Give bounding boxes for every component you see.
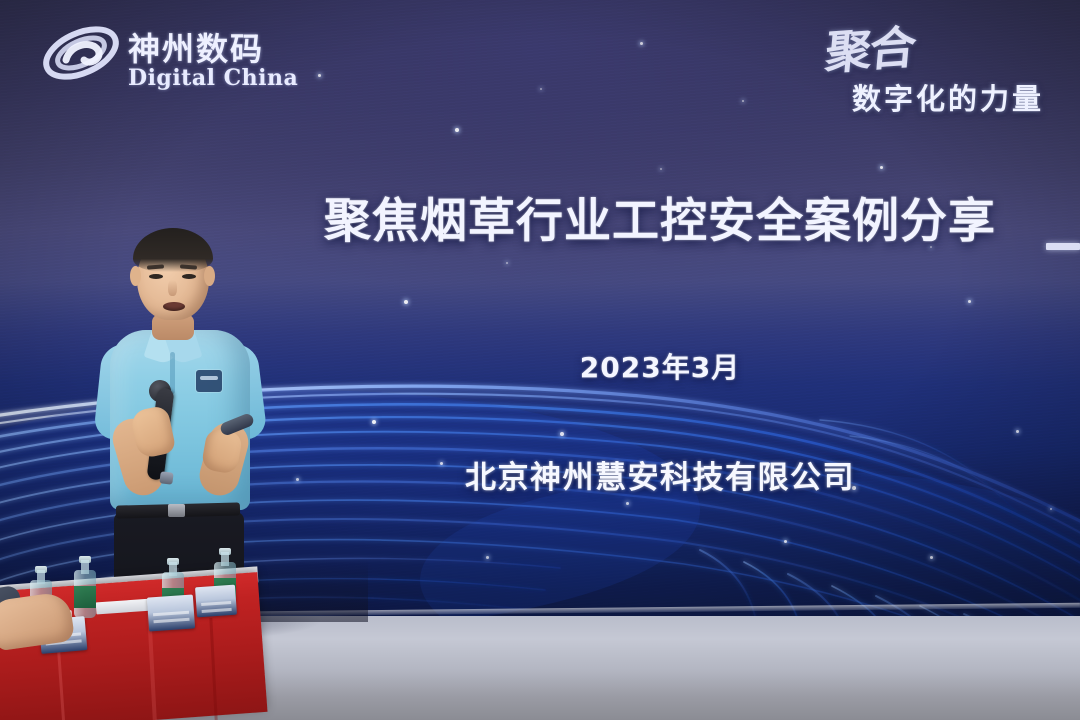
slide-date: 2023年3月 <box>300 346 1020 386</box>
presenter-nose <box>168 280 177 296</box>
presenter-right-eye <box>182 274 196 279</box>
name-card <box>195 585 237 618</box>
presenter-hair <box>133 228 213 272</box>
digital-china-logo: 神州数码 Digital China <box>40 18 290 94</box>
shirt-chest-logo <box>196 370 222 392</box>
presenter-right-ear <box>204 266 215 286</box>
slide-company: 北京神州慧安科技有限公司 <box>300 452 1020 497</box>
belt-buckle <box>168 504 185 517</box>
event-subtitle: 数字化的力量 <box>852 76 1044 118</box>
water-bottle <box>74 556 96 618</box>
brand-name-english: Digital China <box>128 65 298 91</box>
slide-title: 聚焦烟草行业工控安全案例分享 <box>300 182 1020 251</box>
bottle-label <box>74 586 96 608</box>
presenter-left-eye <box>149 274 163 279</box>
name-card <box>147 594 195 631</box>
screen-accent-dash <box>1046 243 1080 250</box>
spiral-swirl-icon <box>40 20 122 86</box>
brand-name-chinese: 神州数码 <box>128 24 264 70</box>
event-calligraphy: 聚合 <box>823 11 918 83</box>
event-theme-logo: 聚合 数字化的力量 <box>818 14 1066 114</box>
microphone-base <box>159 471 173 484</box>
presenter-mouth <box>163 302 185 311</box>
conference-stage-photo: 神州数码 Digital China 聚合 数字化的力量 聚焦烟草行业工控安全案… <box>0 0 1080 720</box>
presenter-left-ear <box>130 266 141 286</box>
